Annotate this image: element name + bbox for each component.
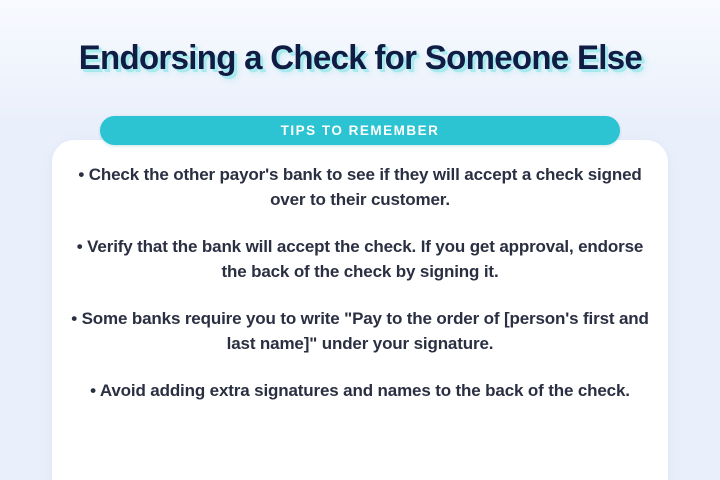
list-item: • Check the other payor's bank to see if… xyxy=(58,162,662,212)
infographic-poster: Endorsing a Check for Someone Else Tips … xyxy=(0,0,720,480)
list-item: • Avoid adding extra signatures and name… xyxy=(58,378,662,403)
tips-banner-label: Tips to Remember xyxy=(281,124,440,138)
title-container: Endorsing a Check for Someone Else xyxy=(0,36,720,80)
tips-banner: Tips to Remember xyxy=(100,116,620,145)
list-item: • Verify that the bank will accept the c… xyxy=(58,234,662,284)
tips-list: • Check the other payor's bank to see if… xyxy=(58,162,662,403)
list-item: • Some banks require you to write "Pay t… xyxy=(58,306,662,356)
page-title: Endorsing a Check for Someone Else xyxy=(78,36,641,80)
